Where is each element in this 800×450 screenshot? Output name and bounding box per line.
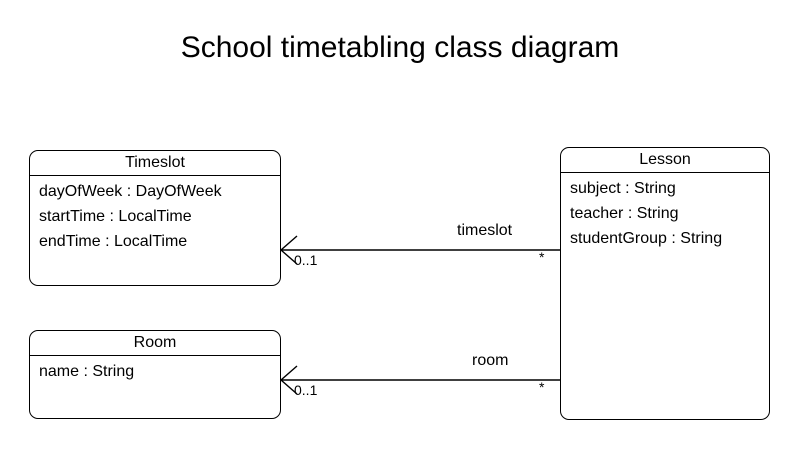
uml-class-lesson[interactable]: Lesson subject : String teacher : String… [560,147,770,420]
uml-attributes-room: name : String [30,356,280,384]
uml-attribute: startTime : LocalTime [39,204,280,229]
uml-attribute: subject : String [570,176,769,201]
uml-attribute: name : String [39,359,280,384]
uml-attribute: teacher : String [570,201,769,226]
association-line-timeslot [281,236,560,264]
association-multiplicity-target-room: 0..1 [294,382,317,398]
association-line-room [281,366,560,394]
association-multiplicity-source-room: * [539,379,544,395]
uml-class-name-timeslot: Timeslot [30,151,280,176]
association-multiplicity-source-timeslot: * [539,249,544,265]
diagram-canvas: School timetabling class diagram Timeslo… [0,0,800,450]
uml-attributes-timeslot: dayOfWeek : DayOfWeek startTime : LocalT… [30,176,280,254]
uml-attribute: studentGroup : String [570,226,769,251]
association-multiplicity-target-timeslot: 0..1 [294,252,317,268]
association-label-timeslot: timeslot [457,222,512,240]
uml-attribute: dayOfWeek : DayOfWeek [39,179,280,204]
uml-class-name-room: Room [30,331,280,356]
association-label-room: room [472,352,508,370]
uml-class-room[interactable]: Room name : String [29,330,281,419]
uml-attribute: endTime : LocalTime [39,229,280,254]
uml-class-name-lesson: Lesson [561,148,769,173]
uml-class-timeslot[interactable]: Timeslot dayOfWeek : DayOfWeek startTime… [29,150,281,286]
uml-attributes-lesson: subject : String teacher : String studen… [561,173,769,251]
